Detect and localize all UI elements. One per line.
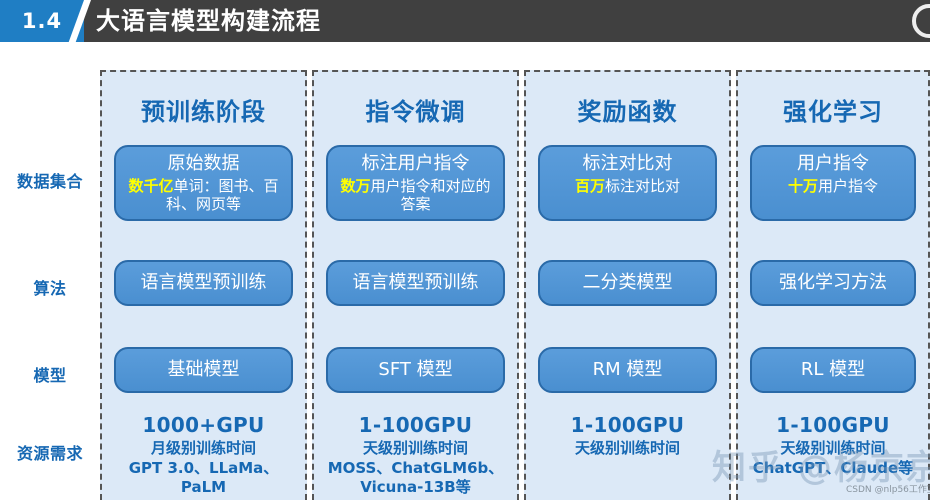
algorithm-card[interactable]: 语言模型预训练 bbox=[114, 260, 293, 306]
row-label-algorithm: 算法 bbox=[0, 275, 100, 299]
slide-header-bar: 1.4 大语言模型构建流程 bbox=[0, 0, 930, 42]
section-number: 1.4 bbox=[0, 0, 84, 42]
dataset-card-detail: 数万用户指令和对应的答案 bbox=[328, 176, 503, 214]
model-card-label: 基础模型 bbox=[168, 359, 240, 382]
model-card[interactable]: RM 模型 bbox=[538, 347, 717, 393]
resource-time: 天级别训练时间 bbox=[320, 439, 511, 459]
dataset-card-detail: 百万标注对比对 bbox=[540, 176, 715, 195]
resource-gpu: 1-100GPU bbox=[320, 412, 511, 439]
dataset-detail-rest: 标注对比对 bbox=[605, 177, 680, 195]
resource-block: 1-100GPU 天级别训练时间 MOSS、ChatGLM6b、Vicuna-1… bbox=[320, 412, 511, 498]
row-label-resource: 资源需求 bbox=[0, 440, 100, 464]
dataset-card-title: 标注对比对 bbox=[540, 147, 715, 176]
dataset-card-detail: 数千亿单词：图书、百科、网页等 bbox=[116, 176, 291, 214]
algorithm-card[interactable]: 语言模型预训练 bbox=[326, 260, 505, 306]
resource-gpu: 1-100GPU bbox=[532, 412, 723, 439]
model-card-label: RM 模型 bbox=[593, 359, 663, 382]
resource-time: 天级别训练时间 bbox=[744, 439, 922, 459]
model-card-label: RL 模型 bbox=[801, 359, 865, 382]
stage-column-instruction-tuning[interactable]: 指令微调 标注用户指令 数万用户指令和对应的答案 语言模型预训练 SFT 模型 … bbox=[312, 70, 519, 500]
dataset-card[interactable]: 标注用户指令 数万用户指令和对应的答案 bbox=[326, 145, 505, 221]
model-card[interactable]: SFT 模型 bbox=[326, 347, 505, 393]
dataset-highlight: 数千亿 bbox=[128, 177, 173, 195]
resource-gpu: 1-100GPU bbox=[744, 412, 922, 439]
stage-title: 预训练阶段 bbox=[102, 92, 305, 127]
model-card-label: SFT 模型 bbox=[378, 359, 452, 382]
algorithm-card-label: 语言模型预训练 bbox=[141, 272, 267, 295]
row-label-dataset: 数据集合 bbox=[0, 168, 100, 192]
resource-time: 月级别训练时间 bbox=[108, 439, 299, 459]
algorithm-card-label: 语言模型预训练 bbox=[353, 272, 479, 295]
resource-block: 1-100GPU 天级别训练时间 ChatGPT、Claude等 bbox=[744, 412, 922, 478]
stage-title: 强化学习 bbox=[738, 92, 928, 127]
dataset-highlight: 数万 bbox=[340, 177, 370, 195]
dataset-card-title: 用户指令 bbox=[752, 147, 914, 176]
resource-time: 天级别训练时间 bbox=[532, 439, 723, 459]
resource-block: 1000+GPU 月级别训练时间 GPT 3.0、LLaMa、PaLM bbox=[108, 412, 299, 498]
resource-model-list: MOSS、ChatGLM6b、Vicuna-13B等 bbox=[320, 459, 511, 498]
stage-column-reward-function[interactable]: 奖励函数 标注对比对 百万标注对比对 二分类模型 RM 模型 1-100GPU … bbox=[524, 70, 731, 500]
resource-block: 1-100GPU 天级别训练时间 bbox=[532, 412, 723, 459]
resource-gpu: 1000+GPU bbox=[108, 412, 299, 439]
dataset-card-detail: 十万用户指令 bbox=[752, 176, 914, 195]
dataset-card[interactable]: 用户指令 十万用户指令 bbox=[750, 145, 916, 221]
algorithm-card[interactable]: 二分类模型 bbox=[538, 260, 717, 306]
algorithm-card[interactable]: 强化学习方法 bbox=[750, 260, 916, 306]
resource-model-list: ChatGPT、Claude等 bbox=[744, 459, 922, 479]
dataset-highlight: 百万 bbox=[575, 177, 605, 195]
dataset-detail-rest: 用户指令 bbox=[818, 177, 878, 195]
model-card[interactable]: 基础模型 bbox=[114, 347, 293, 393]
algorithm-card-label: 二分类模型 bbox=[583, 272, 673, 295]
row-label-model: 模型 bbox=[0, 362, 100, 386]
dataset-highlight: 十万 bbox=[788, 177, 818, 195]
stage-title: 奖励函数 bbox=[526, 92, 729, 127]
stage-column-pretraining[interactable]: 预训练阶段 原始数据 数千亿单词：图书、百科、网页等 语言模型预训练 基础模型 … bbox=[100, 70, 307, 500]
dataset-detail-rest: 用户指令和对应的答案 bbox=[371, 177, 491, 213]
dataset-card[interactable]: 标注对比对 百万标注对比对 bbox=[538, 145, 717, 221]
page-title: 大语言模型构建流程 bbox=[96, 0, 321, 42]
dataset-card-title: 标注用户指令 bbox=[328, 147, 503, 176]
dataset-detail-rest: 单词：图书、百科、网页等 bbox=[166, 177, 279, 213]
corner-circle-icon bbox=[912, 4, 930, 38]
algorithm-card-label: 强化学习方法 bbox=[779, 272, 887, 295]
stage-column-reinforcement-learning[interactable]: 强化学习 用户指令 十万用户指令 强化学习方法 RL 模型 1-100GPU 天… bbox=[736, 70, 930, 500]
stage-title: 指令微调 bbox=[314, 92, 517, 127]
dataset-card-title: 原始数据 bbox=[116, 147, 291, 176]
dataset-card[interactable]: 原始数据 数千亿单词：图书、百科、网页等 bbox=[114, 145, 293, 221]
resource-model-list: GPT 3.0、LLaMa、PaLM bbox=[108, 459, 299, 498]
model-card[interactable]: RL 模型 bbox=[750, 347, 916, 393]
